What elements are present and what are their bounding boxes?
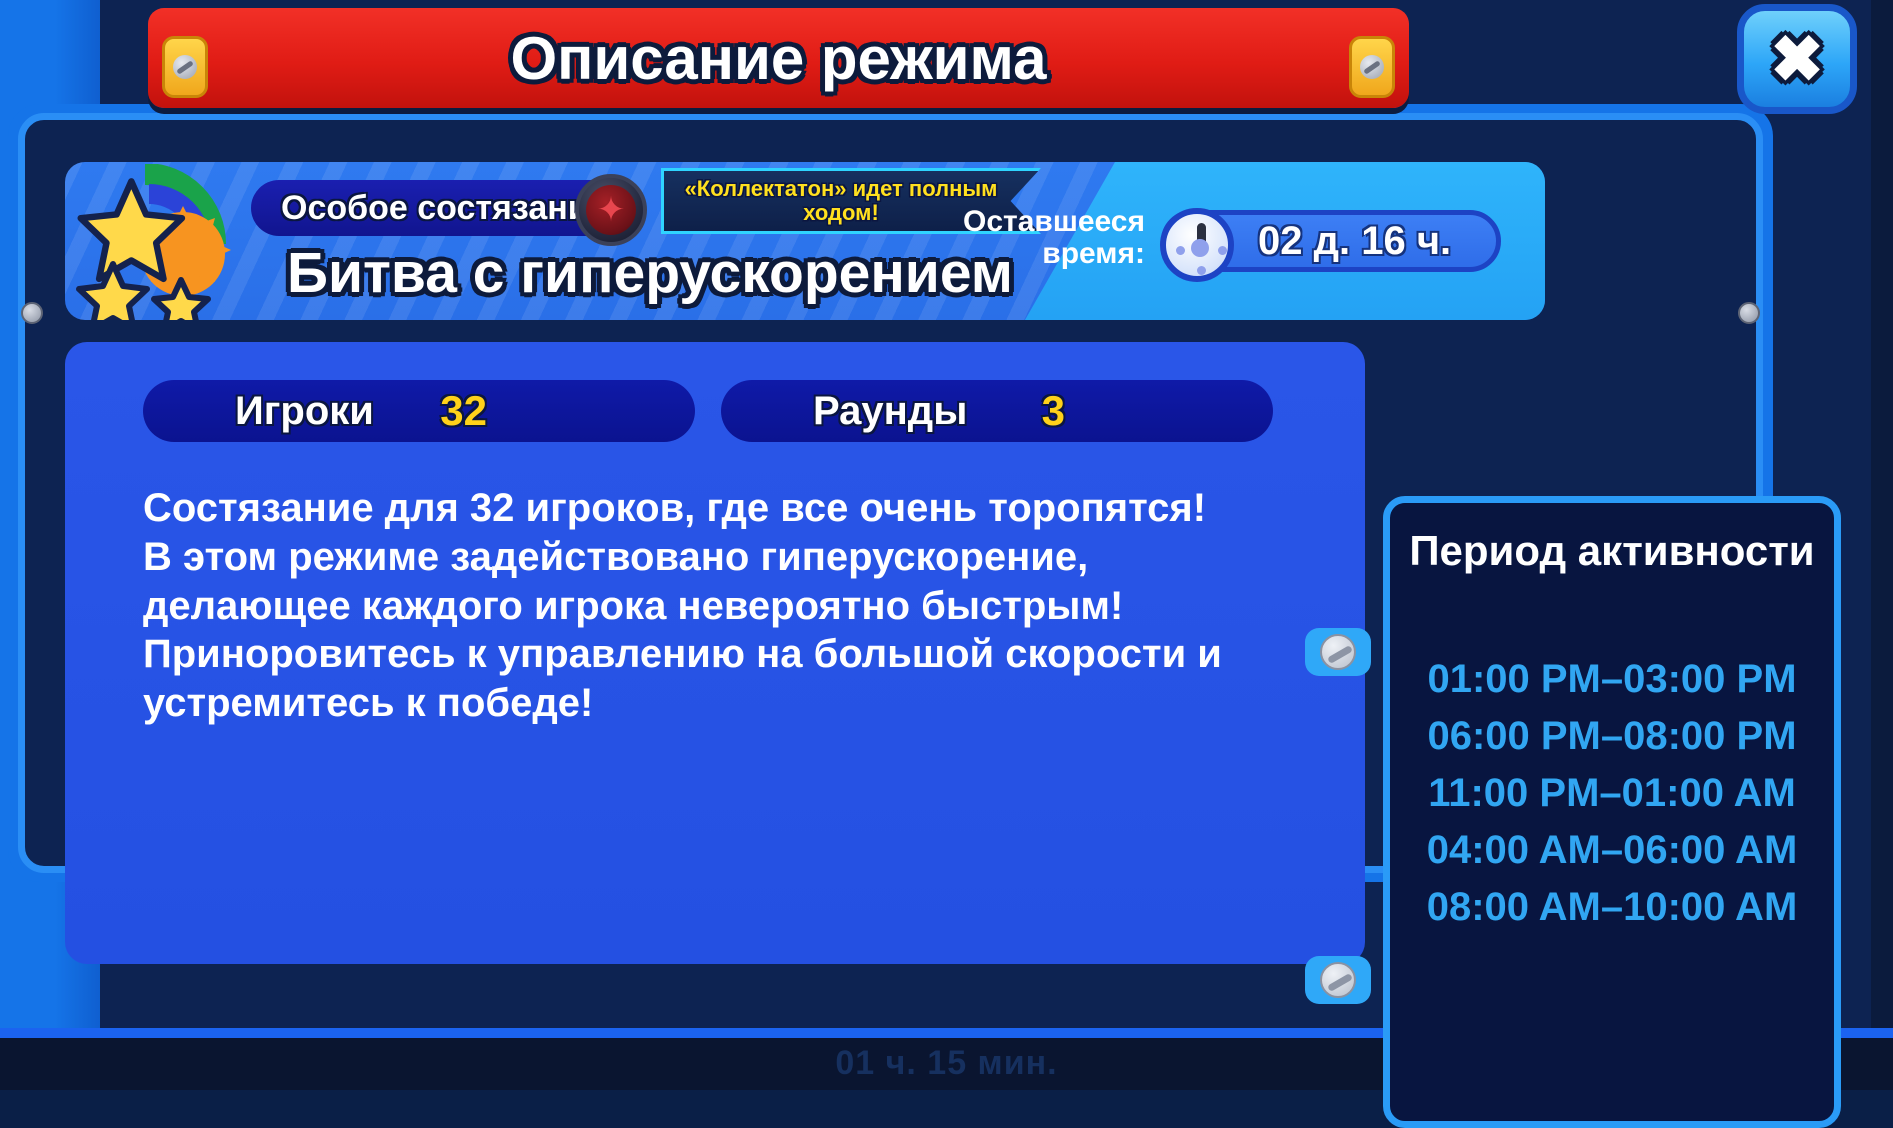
panel-connector-tab-top [1305, 628, 1371, 676]
red-claw-emblem-icon: ✦ [575, 174, 647, 246]
screw-icon [1320, 634, 1356, 670]
panel-connector-tab-bottom [1305, 956, 1371, 1004]
emblem-inner-glyph: ✦ [586, 185, 636, 235]
activity-period-panel: Период активности 01:00 PM–03:00 PM 06:0… [1383, 496, 1841, 1128]
event-header: Особое состязание ✦ «Коллектатон» идет п… [65, 162, 1545, 320]
description-line: В этом режиме задействовано гиперускорен… [143, 533, 1263, 631]
background-right-strip [1871, 0, 1893, 1090]
page-title: Описание режима [148, 8, 1409, 108]
frame-screw-right [1738, 302, 1760, 324]
remaining-time-value: 02 д. 16 ч. [1258, 219, 1451, 264]
screw-icon [1320, 962, 1356, 998]
stat-rounds-label: Раунды [813, 389, 967, 434]
stat-pill-players: Игроки 32 [143, 380, 695, 442]
stars-burst-icon [75, 164, 243, 320]
activity-period-item: 04:00 AM–06:00 AM [1427, 828, 1798, 873]
dialog-title-banner: Описание режима [148, 8, 1409, 108]
stat-pill-rounds: Раунды 3 [721, 380, 1273, 442]
frame-screw-left [21, 302, 43, 324]
description-line: Приноровитесь к управлению на большой ск… [143, 630, 1263, 728]
stat-players-value: 32 [440, 387, 487, 435]
close-button[interactable]: ✖ [1737, 4, 1857, 114]
activity-period-item: 06:00 PM–08:00 PM [1427, 714, 1796, 759]
mode-description-dialog: Особое состязание ✦ «Коллектатон» идет п… [0, 0, 1871, 1038]
remaining-time-pill: 02 д. 16 ч. [1161, 210, 1501, 272]
mode-content-panel: Игроки 32 Раунды 3 Состязание для 32 игр… [65, 342, 1365, 964]
special-contest-label: Особое состязание [281, 189, 608, 228]
remaining-time-label: Оставшееся время: [935, 206, 1145, 269]
dialog-body: Особое состязание ✦ «Коллектатон» идет п… [18, 113, 1763, 873]
activity-period-item: 08:00 AM–10:00 AM [1427, 885, 1798, 930]
description-line: Состязание для 32 игроков, где все очень… [143, 484, 1263, 533]
activity-period-title: Период активности [1390, 527, 1834, 575]
mode-description-text: Состязание для 32 игроков, где все очень… [143, 484, 1263, 728]
activity-period-item: 11:00 PM–01:00 AM [1428, 771, 1796, 816]
stat-players-label: Игроки [235, 389, 374, 434]
close-x-icon: ✖ [1770, 27, 1824, 91]
activity-period-list: 01:00 PM–03:00 PM 06:00 PM–08:00 PM 11:0… [1390, 657, 1834, 930]
activity-period-item: 01:00 PM–03:00 PM [1427, 657, 1796, 702]
clock-icon [1160, 208, 1234, 282]
stat-rounds-value: 3 [1042, 387, 1065, 435]
mode-title: Битва с гиперускорением [287, 240, 1013, 306]
